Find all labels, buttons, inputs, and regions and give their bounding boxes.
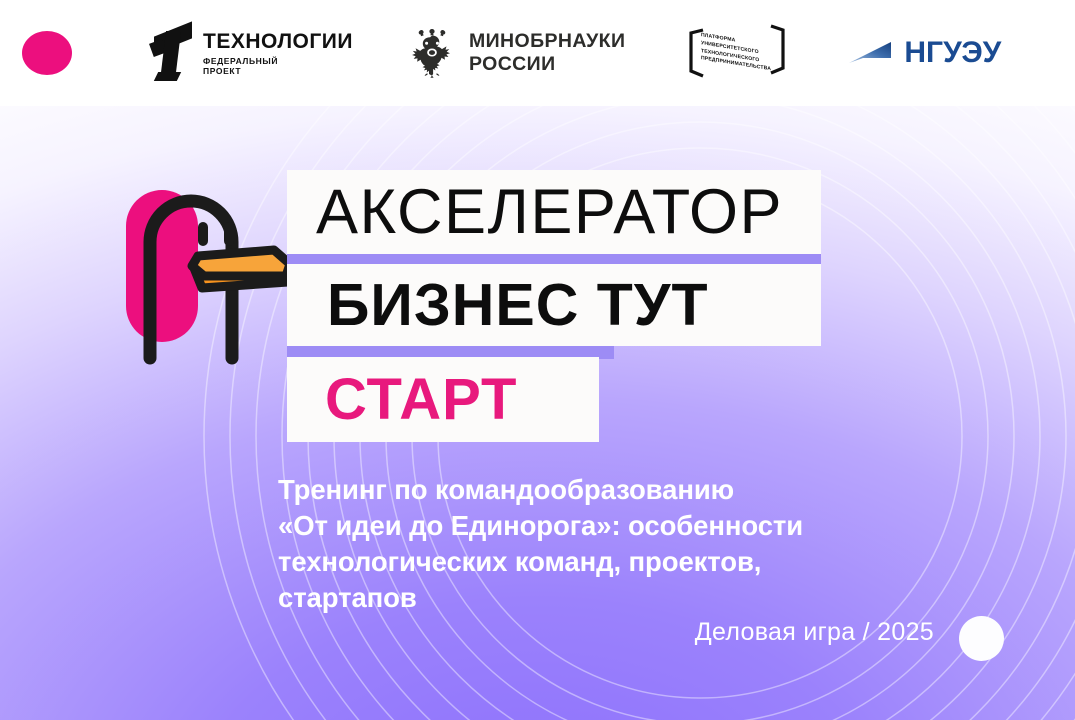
tekhnologii-line1: ТЕХНОЛОГИИ [203,31,353,52]
double-eagle-crest-icon [407,24,457,82]
title-box-accelerator: АКСЕЛЕРАТОР [287,170,821,254]
title-line-1: АКСЕЛЕРАТОР [316,176,783,248]
event-description: Тренинг по командообразованию «От идеи д… [278,472,1008,616]
description-line-2: «От идеи до Единорога»: особенности [278,508,1008,544]
pink-dot-logo [22,29,76,77]
description-line-3: технологических команд, проектов, [278,544,1008,580]
description-line-4: стартапов [278,580,1008,616]
minobrnauki-logo: МИНОБРНАУКИ РОССИИ [407,24,625,82]
ngueu-logo: НГУЭУ [845,36,1001,70]
description-line-1: Тренинг по командообразованию [278,472,1008,508]
tekhnologii-logo: ТЕХНОЛОГИИ ФЕДЕРАЛЬНЫЙ ПРОЕКТ [148,25,353,81]
tekhnologii-line3: ПРОЕКТ [203,67,353,76]
minobrnauki-line1: МИНОБРНАУКИ [469,30,625,53]
title-box-business-here: БИЗНЕС ТУТ [287,264,821,346]
title-box-start: СТАРТ [287,357,599,442]
partner-logo-bar: ТЕХНОЛОГИИ ФЕДЕРАЛЬНЫЙ ПРОЕКТ [0,0,1075,106]
poster-canvas: ТЕХНОЛОГИИ ФЕДЕРАЛЬНЫЙ ПРОЕКТ [0,0,1075,720]
ngueu-triangle-icon [845,36,897,70]
minobrnauki-line2: РОССИИ [469,53,625,76]
tekhnologii-wordmark: ТЕХНОЛОГИИ ФЕДЕРАЛЬНЫЙ ПРОЕКТ [203,31,353,76]
pink-circle-icon [22,31,72,75]
event-type-and-year: Деловая игра / 2025 [0,618,934,647]
platforma-logo: ПЛАТФОРМА УНИВЕРСИТЕТСКОГО ТЕХНОЛОГИЧЕСК… [685,22,789,84]
white-circle-decoration [959,616,1004,661]
ngueu-wordmark: НГУЭУ [904,36,1001,70]
tekhnologii-mark-icon [148,25,194,81]
goose-mascot-icon [112,158,312,388]
minobrnauki-wordmark: МИНОБРНАУКИ РОССИИ [469,30,625,76]
tekhnologii-line2: ФЕДЕРАЛЬНЫЙ [203,57,353,66]
title-line-2: БИЗНЕС ТУТ [327,271,709,339]
title-line-3: СТАРТ [325,366,517,433]
